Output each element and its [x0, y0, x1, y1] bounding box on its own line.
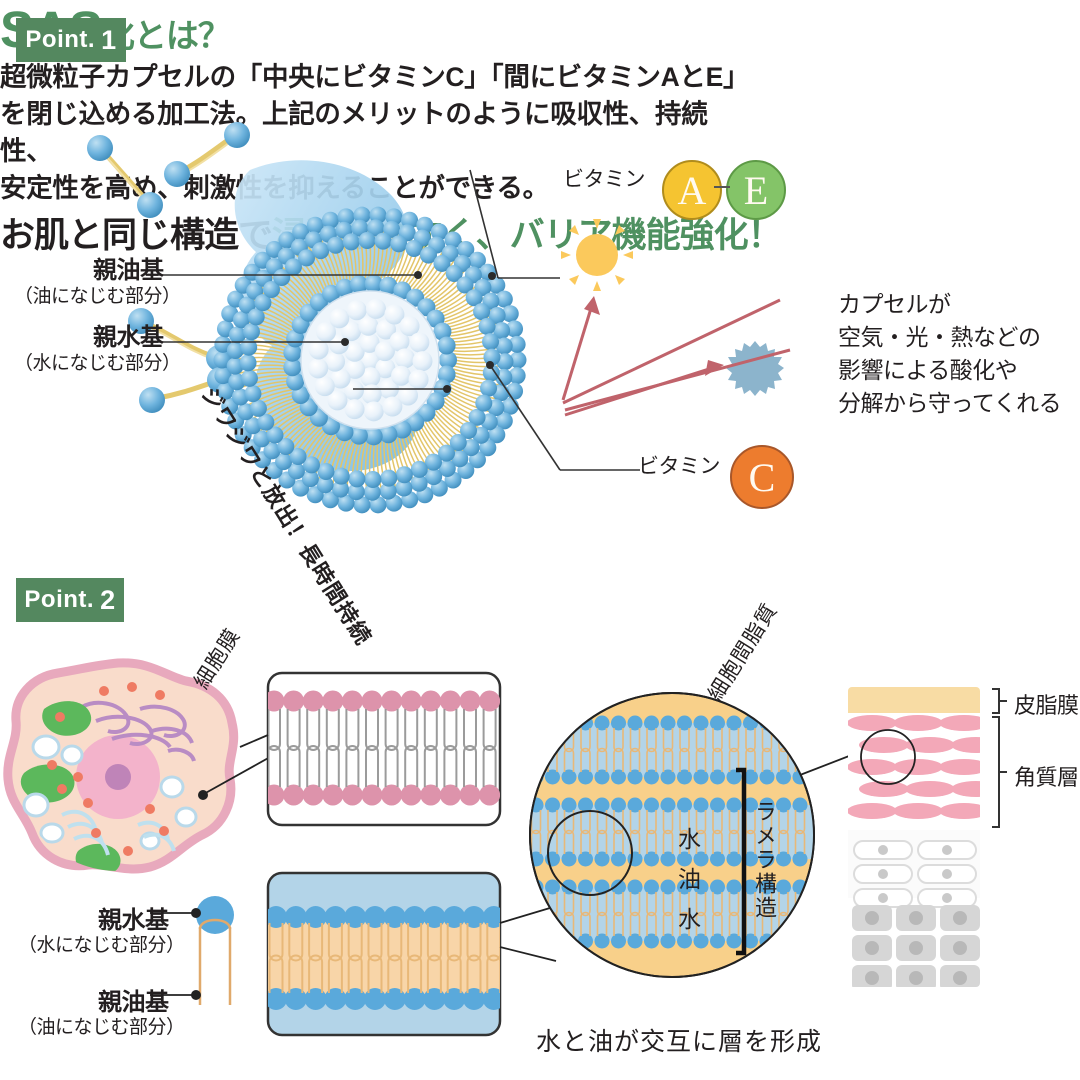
- vitamin-a-circle: A: [662, 160, 722, 220]
- skin-cross-section: [847, 687, 1007, 991]
- vitamin-ae-connector: [714, 186, 730, 188]
- capsule-core: [301, 291, 439, 429]
- label-lipophilic-sub-p1: （油になじむ部分）: [14, 281, 181, 308]
- label-lipophilic-p1: 親油基: [93, 250, 164, 285]
- vitamin-label-bottom: ビタミン: [638, 450, 720, 480]
- protect-line-1: カプセルが: [838, 288, 1061, 321]
- protect-line-4: 分解から守ってくれる: [838, 387, 1061, 420]
- starburst-icon: [726, 341, 784, 396]
- label-sebum-film: 皮脂膜: [1014, 688, 1079, 720]
- label-hydrophilic-sub-p1: （水になじむ部分）: [14, 348, 181, 375]
- panel-lamellar-structure: [265, 873, 505, 1035]
- label-water-top: 水: [678, 820, 701, 854]
- point2-badge-word: Point.: [24, 586, 94, 614]
- protect-text: カプセルが 空気・光・熱などの 影響による酸化や 分解から守ってくれる: [838, 288, 1061, 420]
- protect-line-3: 影響による酸化や: [838, 354, 1061, 387]
- point2-badge: Point. 2: [16, 578, 124, 622]
- label-oil: 油: [678, 860, 701, 894]
- label-hydrophilic-sub-p2: （水になじむ部分）: [18, 930, 185, 957]
- point1-badge: Point. 1: [16, 18, 126, 62]
- protect-line-2: 空気・光・熱などの: [838, 321, 1061, 354]
- vitamin-c-circle: C: [730, 445, 794, 509]
- point2-badge-number: 2: [100, 585, 116, 616]
- point1-body-line1: 超微粒子カプセルの「中央にビタミンC」「間にビタミンAとE」: [0, 59, 752, 96]
- cell-diagram: [8, 663, 288, 877]
- label-water-bottom: 水: [678, 900, 701, 934]
- sun-icon: [561, 219, 633, 291]
- label-stratum-corneum: 角質層: [1014, 760, 1079, 792]
- panel-cell-membrane: [264, 673, 501, 825]
- point1-badge-word: Point.: [25, 26, 95, 54]
- label-lamellar-structure: ラメラ構造: [748, 800, 780, 920]
- lamellar-caption: 水と油が交互に層を形成: [536, 1022, 822, 1058]
- vitamin-label-top: ビタミン: [563, 163, 645, 193]
- label-lipophilic-sub-p2: （油になじむ部分）: [18, 1012, 185, 1039]
- label-hydrophilic-p1: 親水基: [93, 317, 164, 352]
- point1-title: SAS化とは？: [0, 0, 1080, 59]
- vitamin-e-circle: E: [726, 160, 786, 220]
- point1-badge-number: 1: [101, 25, 117, 56]
